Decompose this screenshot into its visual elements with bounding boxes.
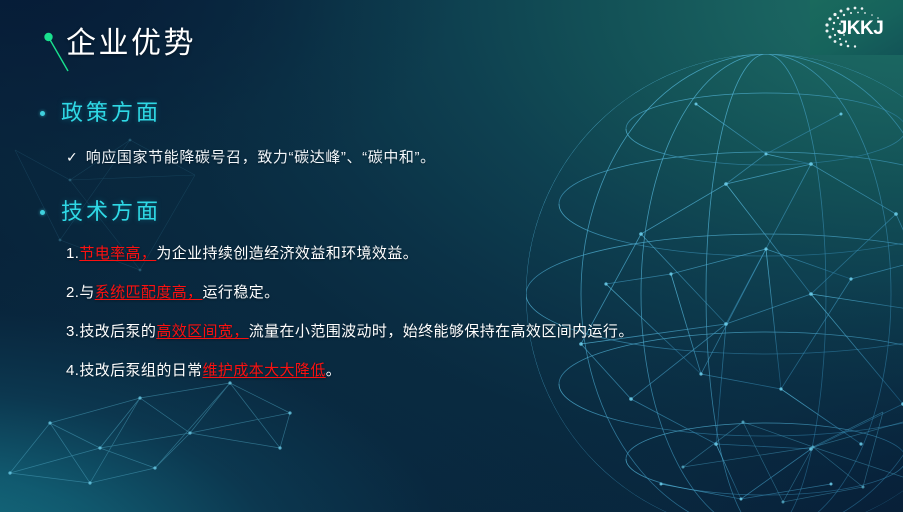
list-item-text: 。 — [326, 362, 341, 379]
section-heading-technology: 技术方面 — [0, 195, 903, 229]
list-item-highlight: 维护成本大大降低 — [203, 362, 326, 379]
logo-wordmark: JKKJ — [837, 18, 884, 39]
title-green-dot — [44, 33, 52, 41]
list-item: 4.技改后泵组的日常维护成本大大降低。 — [66, 360, 903, 382]
slide-title-block: 企业优势 — [40, 26, 370, 82]
section-policy: 政策方面 ✓ 响应国家节能降碳号召，致力“碳达峰”、“碳中和”。 — [0, 96, 903, 169]
section-spacer — [0, 169, 903, 195]
list-item: 3.技改后泵的高效区间宽，流量在小范围波动时，始终能够保持在高效区间内运行。 — [66, 321, 903, 343]
list-item-highlight: 节电率高， — [79, 245, 156, 262]
section-title-policy: 政策方面 — [61, 96, 161, 130]
section-technology: 技术方面 1.节电率高，为企业持续创造经济效益和环境效益。 2.与系统匹配度高，… — [0, 195, 903, 382]
list-item-text: 为企业持续创造经济效益和环境效益。 — [156, 245, 418, 262]
section-heading-policy: 政策方面 — [0, 96, 903, 130]
list-item-prefix: 技改后泵的 — [79, 323, 156, 340]
list-item-text: 响应国家节能降碳号召，致力“碳达峰”、“碳中和”。 — [86, 147, 436, 169]
list-item-text: 运行稳定。 — [203, 284, 280, 301]
list-item-number: 2. — [66, 284, 79, 301]
numbered-list: 1.节电率高，为企业持续创造经济效益和环境效益。 2.与系统匹配度高，运行稳定。… — [0, 243, 903, 382]
list-item-prefix: 与 — [79, 284, 94, 301]
list-item: 2.与系统匹配度高，运行稳定。 — [66, 282, 903, 304]
page-title: 企业优势 — [66, 24, 196, 64]
section-title-technology: 技术方面 — [61, 195, 161, 229]
list-item: 1.节电率高，为企业持续创造经济效益和环境效益。 — [66, 243, 903, 265]
list-item: ✓ 响应国家节能降碳号召，致力“碳达峰”、“碳中和”。 — [0, 146, 903, 169]
cyan-dot-icon — [40, 210, 45, 215]
list-item-number: 3. — [66, 323, 79, 340]
list-item-highlight: 系统匹配度高， — [95, 284, 203, 301]
company-logo: JKKJ — [810, 0, 903, 55]
list-item-text: 流量在小范围波动时，始终能够保持在高效区间内运行。 — [249, 323, 634, 340]
checkmark-icon: ✓ — [66, 146, 78, 168]
list-item-number: 1. — [66, 245, 79, 262]
list-item-prefix: 技改后泵组的日常 — [79, 362, 202, 379]
list-item-highlight: 高效区间宽， — [156, 323, 248, 340]
list-item-number: 4. — [66, 362, 79, 379]
presentation-slide: JKKJ 企业优势 政策方面 — [0, 0, 903, 512]
cyan-dot-icon — [40, 111, 45, 116]
slide-content: 政策方面 ✓ 响应国家节能降碳号召，致力“碳达峰”、“碳中和”。 技术方面 1.… — [0, 96, 903, 382]
